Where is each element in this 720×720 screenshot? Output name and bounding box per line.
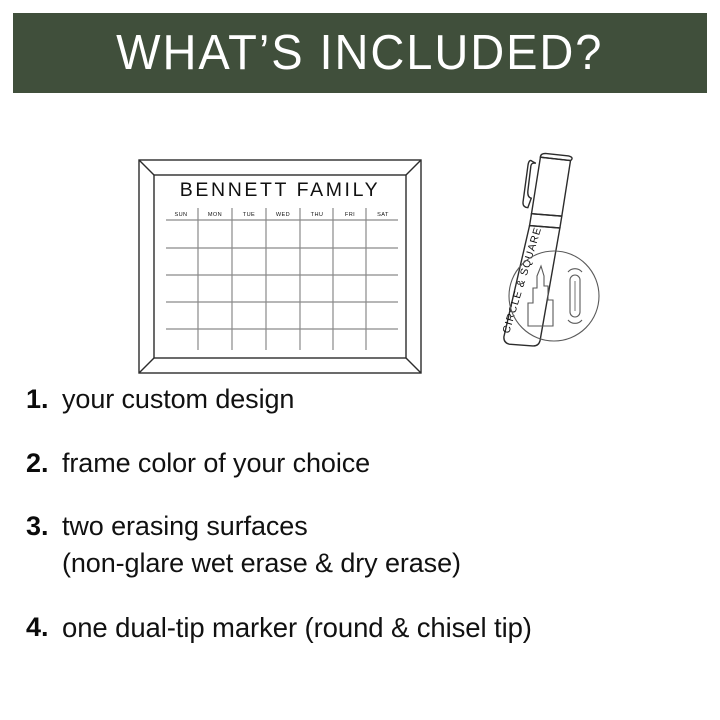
list-item-number: 1. [26, 386, 56, 414]
list-item-text: two erasing surfaces [62, 511, 308, 541]
list-item-number: 3. [26, 513, 56, 541]
included-items-list: 1. your custom design 2. frame color of … [0, 386, 720, 642]
day-header-fri: FRI [345, 212, 355, 218]
rotation-arc-top [568, 269, 582, 272]
frame-inner-edge [154, 175, 406, 358]
page-title: WHAT’S INCLUDED? [116, 29, 603, 78]
list-item-text: one dual-tip marker (round & chisel tip) [56, 614, 532, 642]
day-header-row: SUN MON TUE WED THU FRI SAT [174, 212, 389, 218]
day-header-tue: TUE [243, 212, 255, 218]
list-item: 3. two erasing surfaces (non-glare wet e… [0, 513, 720, 577]
list-item-number: 2. [26, 450, 56, 478]
day-header-sun: SUN [174, 212, 187, 218]
day-header-mon: MON [208, 212, 222, 218]
list-item: 1. your custom design [0, 386, 720, 414]
list-item-subtext: (non-glare wet erase & dry erase) [62, 550, 461, 578]
list-item-number: 4. [26, 614, 56, 642]
frame-miter-br [406, 358, 421, 373]
frame-miter-bl [139, 358, 154, 373]
calendar-svg: BENNETT FAMILY SUN MON TUE WED THU FRI S… [135, 138, 425, 378]
list-item-text: your custom design [56, 386, 294, 414]
header-banner: WHAT’S INCLUDED? [13, 13, 707, 93]
frame-miter-tr [406, 160, 421, 175]
calendar-illustration: BENNETT FAMILY SUN MON TUE WED THU FRI S… [135, 138, 425, 383]
list-item: 4. one dual-tip marker (round & chisel t… [0, 614, 720, 642]
calendar-week-lines [166, 220, 398, 329]
chisel-tip-icon [528, 266, 553, 326]
list-item-text: frame color of your choice [56, 450, 370, 478]
list-item: 2. frame color of your choice [0, 450, 720, 478]
board-title: BENNETT FAMILY [180, 179, 380, 201]
day-header-thu: THU [311, 212, 324, 218]
day-header-sat: SAT [377, 212, 389, 218]
marker-cap-top [540, 149, 572, 164]
rotation-arc-bottom [568, 320, 582, 323]
frame-miter-tl [139, 160, 154, 175]
marker-svg: CIRCLE & SQUARE [462, 148, 602, 363]
marker-barrel-label: CIRCLE & SQUARE [500, 226, 544, 335]
marker-illustration: CIRCLE & SQUARE [462, 148, 602, 368]
illustration-row: BENNETT FAMILY SUN MON TUE WED THU FRI S… [0, 120, 720, 380]
day-header-wed: WED [276, 212, 290, 218]
